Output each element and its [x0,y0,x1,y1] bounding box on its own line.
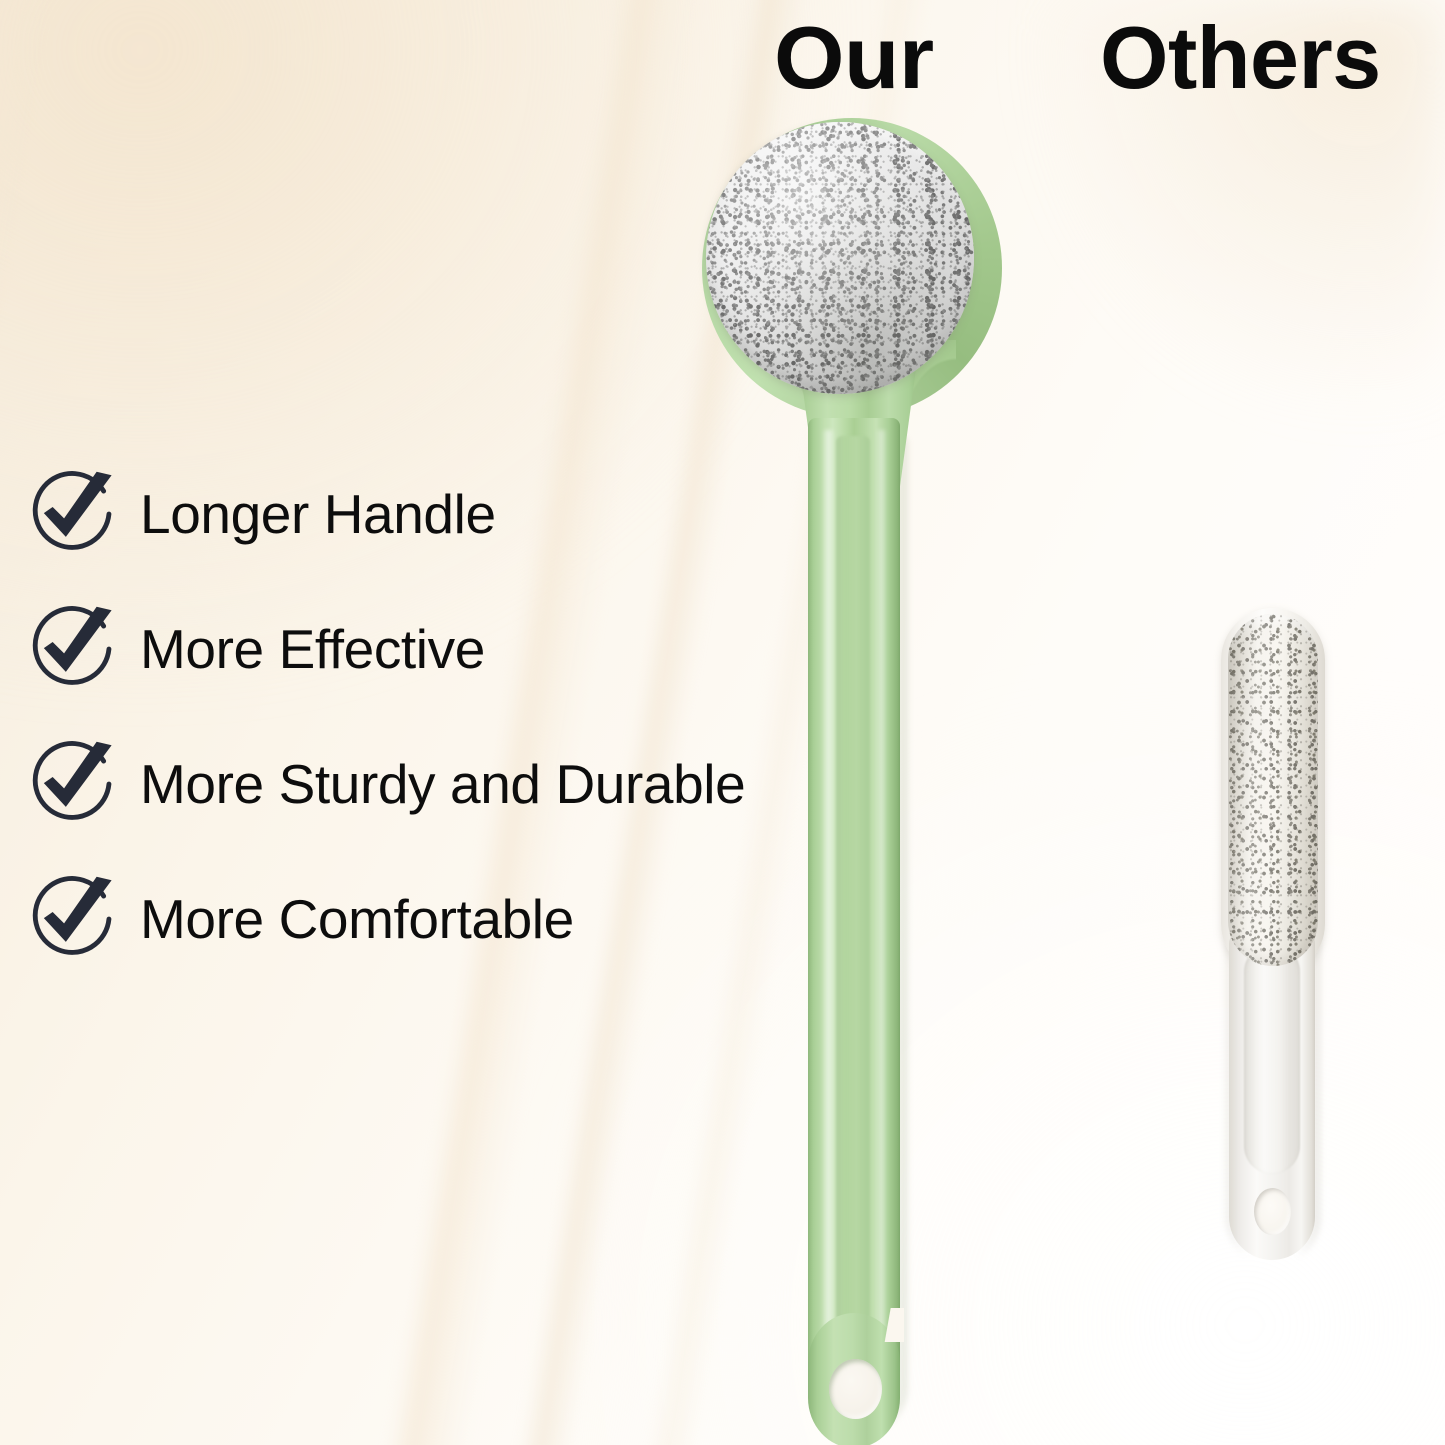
feature-label: Longer Handle [140,474,496,554]
product-image-ours [690,118,1020,1445]
ours-pumice-shading [706,122,974,394]
feature-label: More Effective [140,609,485,689]
product-image-others [1205,600,1365,1280]
feature-label: More Comfortable [140,879,574,959]
ours-handle-highlight-left [822,430,835,1380]
ours-handle-highlight-right [876,430,887,1380]
feature-row: More Effective [24,601,784,736]
check-circle-icon [28,740,116,828]
check-circle-icon [28,605,116,693]
others-pumice-shading [1228,614,1318,966]
ours-handle-groove [836,436,870,1376]
column-header-ours: Our [774,14,934,102]
feature-row: Longer Handle [24,466,784,601]
feature-label: More Sturdy and Durable [140,744,745,824]
product-comparison-image: Our Others Longer Handle More Effective [0,0,1445,1445]
ours-handle-tip-notch [882,1308,904,1342]
others-pumice-pad [1228,614,1318,966]
others-hanging-hole [1254,1188,1291,1235]
check-circle-icon [28,875,116,963]
feature-list: Longer Handle More Effective More Sturdy… [24,466,784,1006]
feature-row: More Comfortable [24,871,784,1006]
ours-pumice-stone [706,122,974,394]
feature-row: More Sturdy and Durable [24,736,784,871]
check-circle-icon [28,470,116,558]
ours-hanging-hole [829,1359,882,1419]
others-handle-inner-groove [1244,944,1300,1174]
column-header-others: Others [1100,14,1381,102]
